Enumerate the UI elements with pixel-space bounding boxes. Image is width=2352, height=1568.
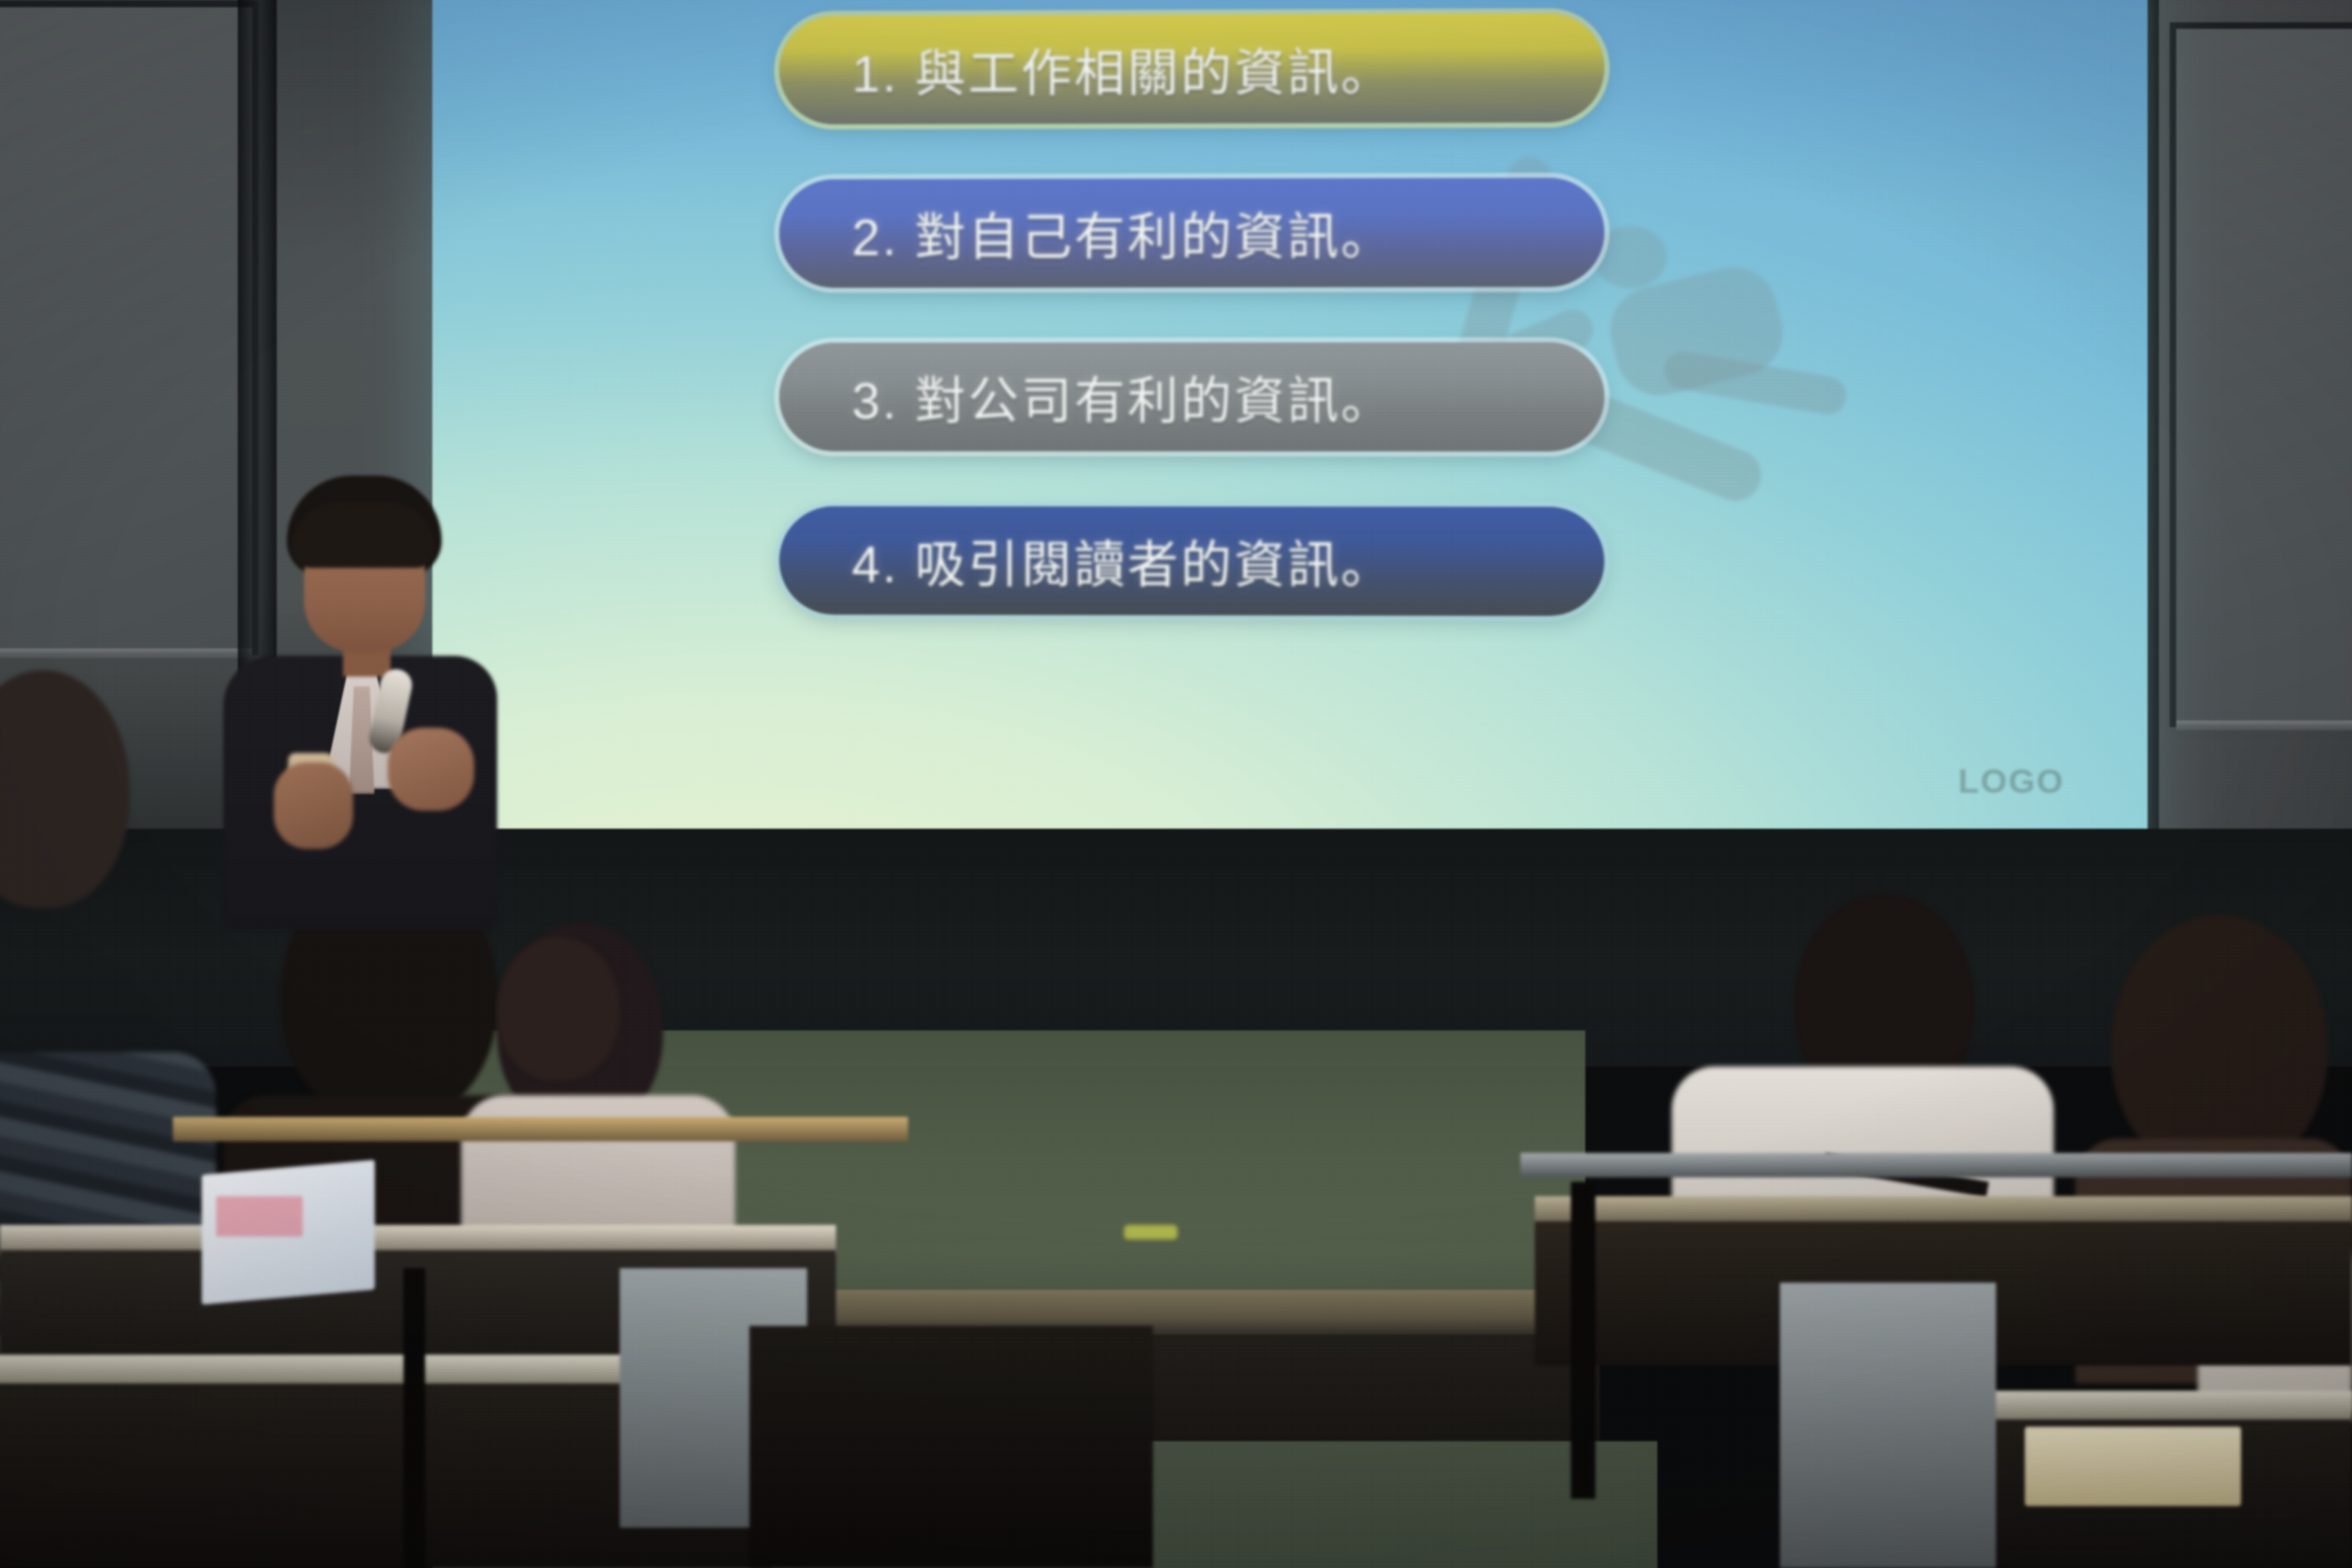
audience-head-left-4	[497, 937, 620, 1081]
presenter-left-hand	[274, 762, 353, 849]
desk-divider-right	[1571, 1182, 1595, 1499]
slide-bullet-2: 2. 對自己有利的資訊。	[779, 178, 1604, 288]
presentation-photo-scene: 1. 與工作相關的資訊。 2. 對自己有利的資訊。 3. 對公司有利的資訊。 4…	[0, 0, 2352, 1568]
desk-row-left-back	[173, 1117, 908, 1141]
slide-bullet-1: 1. 與工作相關的資訊。	[779, 13, 1604, 125]
slide-logo-watermark: LOGO	[1958, 761, 2064, 801]
slide-bullet-1-text: 1. 與工作相關的資訊。	[779, 32, 1394, 107]
presenter	[202, 476, 512, 922]
whiteboard-panel-right	[2176, 29, 2352, 721]
slide-bullet-2-text: 2. 對自己有利的資訊。	[779, 196, 1394, 270]
slide-bullet-3-text: 3. 對公司有利的資訊。	[779, 360, 1394, 434]
desk-divider-left	[404, 1268, 425, 1568]
audience-head-right-2	[2111, 915, 2327, 1175]
presenter-right-hand	[388, 728, 474, 811]
desk-row-right-mid	[1535, 1196, 2352, 1225]
slide-bullet-3: 3. 對公司有利的資訊。	[779, 342, 1604, 452]
projection-screen: 1. 與工作相關的資訊。 2. 對自己有利的資訊。 3. 對公司有利的資訊。 4…	[432, 0, 2147, 847]
slide-bullet-4-text: 4. 吸引閱讀者的資訊。	[779, 524, 1394, 598]
desk-seat-right-front	[1780, 1283, 1996, 1568]
presenter-fringe	[291, 502, 435, 568]
floor-tape-mark	[1124, 1225, 1177, 1239]
laptop-screen-content	[216, 1196, 303, 1237]
paper-on-desk-right	[2025, 1427, 2241, 1506]
whiteboard-ledge-right	[2176, 721, 2352, 731]
slide-bullet-list: 1. 與工作相關的資訊。 2. 對自己有利的資訊。 3. 對公司有利的資訊。 4…	[432, 0, 2147, 847]
desk-row-right-back	[1520, 1153, 2352, 1177]
aisle-seat-center	[749, 1326, 1153, 1568]
slide-bullet-4: 4. 吸引閱讀者的資訊。	[779, 506, 1604, 615]
